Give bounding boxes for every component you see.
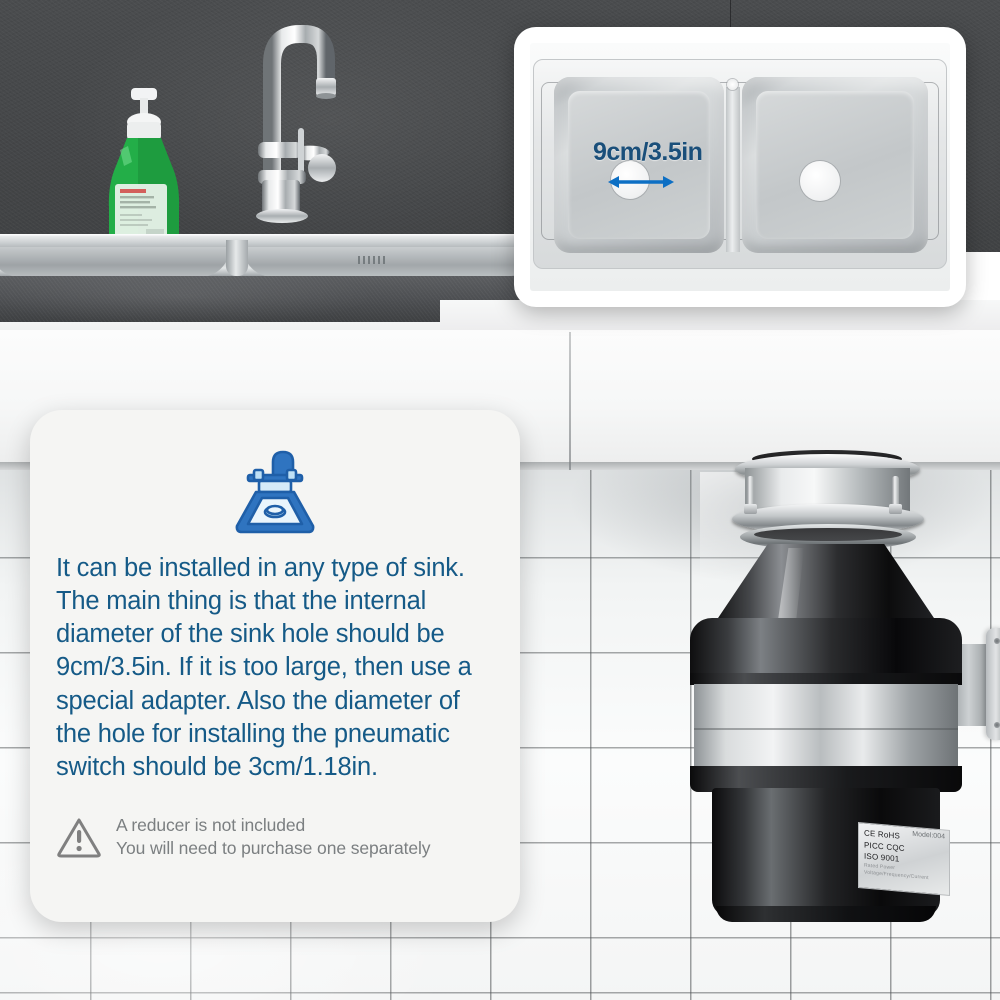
sink-hole-dimension-label: 9cm/3.5in xyxy=(593,138,702,167)
sink-bowl-right xyxy=(243,247,533,277)
drain-hole-right xyxy=(800,161,840,201)
sink-divider xyxy=(226,240,248,276)
sink-diagram-inset: 9cm/3.5in xyxy=(514,27,966,307)
note-line-1: A reducer is not included xyxy=(116,814,430,837)
note-text-block: A reducer is not included You will need … xyxy=(116,814,430,860)
note-line-2: You will need to purchase one separately xyxy=(116,837,430,860)
mount-nut xyxy=(889,504,902,514)
sink-center-rib xyxy=(726,87,740,252)
disposal-base xyxy=(716,906,936,922)
basin-floor xyxy=(756,91,914,239)
info-card-body: It can be installed in any type of sink.… xyxy=(56,552,494,784)
disposal-body-upper xyxy=(690,618,962,680)
spec-label: Model:004 CE RoHS PICC CQC ISO 9001 Rate… xyxy=(858,822,950,896)
sink-brand-mark xyxy=(358,256,388,264)
sink-basin-right xyxy=(742,77,928,253)
warning-triangle-icon xyxy=(56,816,102,858)
disposal-steel-band xyxy=(694,684,958,772)
disposal-hopper-cone xyxy=(714,544,938,624)
garbage-disposal-unit: Model:004 CE RoHS PICC CQC ISO 9001 Rate… xyxy=(690,448,960,928)
faucet-mount-hole xyxy=(727,79,738,90)
cabinet-door-seam xyxy=(569,332,571,470)
sink-bowl-left xyxy=(0,247,230,277)
mount-nut xyxy=(744,504,757,514)
infographic-canvas: Model:004 CE RoHS PICC CQC ISO 9001 Rate… xyxy=(0,0,1000,1000)
note-row: A reducer is not included You will need … xyxy=(56,814,494,860)
info-card: It can be installed in any type of sink.… xyxy=(30,410,520,922)
faucet-icon xyxy=(222,20,362,270)
screw-icon xyxy=(994,638,1000,644)
dimension-arrow-icon xyxy=(608,174,674,190)
mount-locking-slot xyxy=(754,528,902,541)
sink-icon xyxy=(215,440,335,538)
wall-mount-plate xyxy=(986,628,1000,740)
screw-icon xyxy=(994,722,1000,728)
sink-top-view-photo: 9cm/3.5in xyxy=(530,43,950,291)
